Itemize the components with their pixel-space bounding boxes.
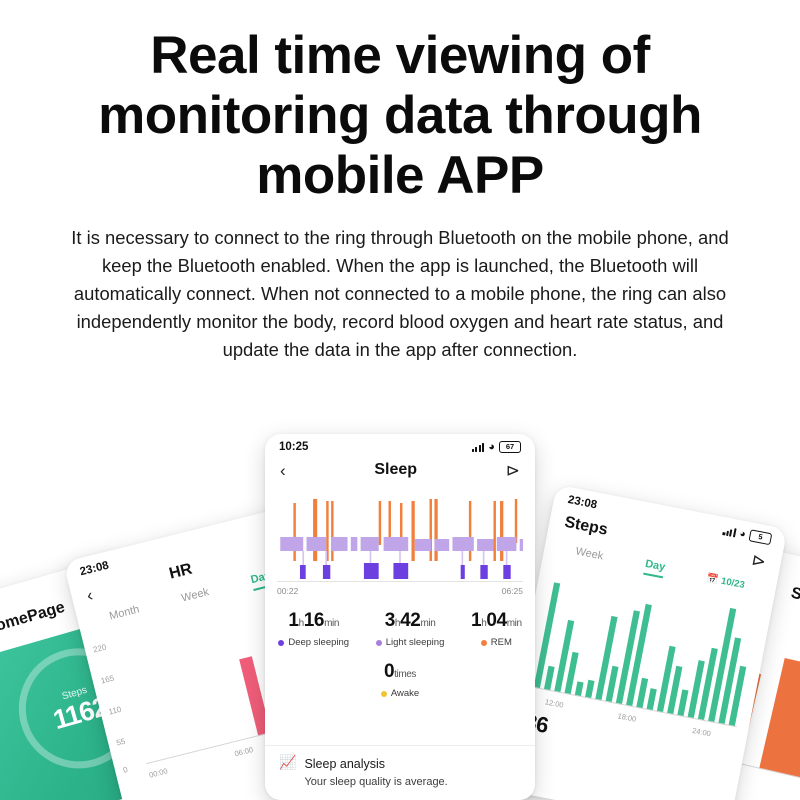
sleep-hypnogram-chart [277, 495, 523, 581]
stat-rem: 1h04min REM [471, 610, 522, 648]
sleep-hypnogram-svg [277, 495, 523, 581]
y-tick-0: 0 [122, 765, 128, 775]
awake-unit: times [394, 669, 416, 680]
y-tick-110: 110 [108, 705, 123, 717]
sleep-analysis-subtitle: Your sleep quality is average. [304, 776, 447, 788]
sleep-analysis-text: Sleep analysis Your sleep quality is ave… [304, 755, 447, 788]
sleep-phone-card[interactable]: 10:25 ◕ 67 ‹ Sleep ⊳ [265, 434, 535, 800]
page-title-sleep: Sleep [374, 461, 417, 479]
back-chevron-icon[interactable]: ‹ [280, 462, 286, 479]
deep-hours: 1 [288, 610, 298, 631]
light-sleep-color-dot [376, 640, 382, 646]
deep-sleep-duration: 1h16min [278, 610, 349, 632]
tab-day[interactable]: Day [643, 558, 666, 579]
x-tick-1200: 12:00 [544, 697, 564, 709]
light-sleep-label-row: Light sleeping [376, 637, 445, 648]
status-icons: ◕ 67 [472, 441, 521, 453]
awake-value: 0 [384, 661, 394, 682]
deep-minutes: 16 [304, 610, 324, 631]
awake-color-dot [381, 691, 387, 697]
awake-label-row: Awake [381, 688, 419, 699]
deep-sleep-label-row: Deep sleeping [278, 637, 349, 648]
awake-count: 0times [381, 661, 419, 683]
deep-sleep-label: Deep sleeping [288, 637, 349, 648]
wifi-icon: ◕ [488, 441, 495, 453]
hero-section: Real time viewing of monitoring data thr… [0, 0, 800, 363]
y-tick-220: 220 [92, 642, 107, 654]
x-tick-0000: 00:00 [148, 766, 168, 779]
x-tick-1800: 18:00 [617, 711, 637, 723]
back-chevron-icon[interactable]: ‹ [85, 586, 95, 604]
status-time: 10:25 [279, 441, 308, 453]
page-description: It is necessary to connect to the ring t… [55, 224, 745, 364]
sleep-awake-row: 0times Awake [265, 661, 535, 699]
deep-sleep-color-dot [278, 640, 284, 646]
y-tick-165: 165 [100, 674, 115, 686]
status-bar: 10:25 ◕ 67 [265, 434, 535, 455]
deep-m-unit: min [324, 618, 339, 629]
page-title: Real time viewing of monitoring data thr… [60, 26, 740, 206]
page-title-hr: HR [167, 561, 194, 584]
rem-label: REM [491, 637, 512, 648]
y-tick-55: 55 [115, 737, 126, 748]
page-title-spo2: SpO2 [789, 585, 800, 612]
rem-m-unit: min [507, 618, 522, 629]
steps-phone-card[interactable]: 23:08 ◕ 5 Steps ⊳ Week Day 📅 10/23 [498, 484, 788, 800]
light-sleep-label: Light sleeping [386, 637, 445, 648]
light-minutes: 42 [400, 610, 420, 631]
sleep-start-time: 00:22 [277, 586, 298, 596]
sleep-analysis-title: Sleep analysis [304, 757, 385, 771]
rem-label-row: REM [471, 637, 522, 648]
light-hours: 3 [385, 610, 395, 631]
date-badge-label: 10/23 [720, 576, 745, 591]
phone-screenshot-deck: 10:25 ‹ HomePage Steps 1162 🔥 47 kcal ⚑ … [0, 408, 800, 800]
share-icon[interactable]: ⊳ [506, 462, 520, 479]
x-tick-2400: 24:00 [691, 726, 711, 738]
x-tick-0600: 06:00 [234, 745, 254, 758]
stat-awake: 0times Awake [381, 661, 419, 699]
tab-week[interactable]: Week [574, 545, 604, 565]
sleep-time-axis: 00:22 06:25 [277, 581, 523, 596]
signal-bars-icon [723, 526, 737, 537]
date-badge[interactable]: 📅 10/23 [706, 573, 746, 591]
awake-label: Awake [391, 688, 419, 699]
rem-hours: 1 [471, 610, 481, 631]
stat-deep-sleeping: 1h16min Deep sleeping [278, 610, 349, 648]
battery-icon: 67 [499, 441, 521, 453]
light-m-unit: min [420, 618, 435, 629]
rem-color-dot [481, 640, 487, 646]
sleep-end-time: 06:25 [502, 586, 523, 596]
sleep-stats-row: 1h16min Deep sleeping 3h42min Light slee… [265, 610, 535, 648]
share-icon[interactable]: ⊳ [750, 551, 767, 570]
sleep-analysis-panel[interactable]: 📈 Sleep analysis Your sleep quality is a… [265, 745, 535, 800]
signal-bars-icon [472, 443, 485, 452]
stat-light-sleeping: 3h42min Light sleeping [376, 610, 445, 648]
calendar-icon: 📅 [706, 573, 720, 586]
wifi-icon: ◕ [739, 528, 747, 540]
chart-analysis-icon: 📈 [279, 755, 296, 769]
nav-bar: ‹ Sleep ⊳ [265, 455, 535, 487]
page-title-steps: Steps [563, 514, 609, 540]
tab-week[interactable]: Week [180, 586, 211, 607]
rem-minutes: 04 [486, 610, 506, 631]
light-sleep-duration: 3h42min [376, 610, 445, 632]
rem-duration: 1h04min [471, 610, 522, 632]
tab-month[interactable]: Month [108, 603, 141, 625]
